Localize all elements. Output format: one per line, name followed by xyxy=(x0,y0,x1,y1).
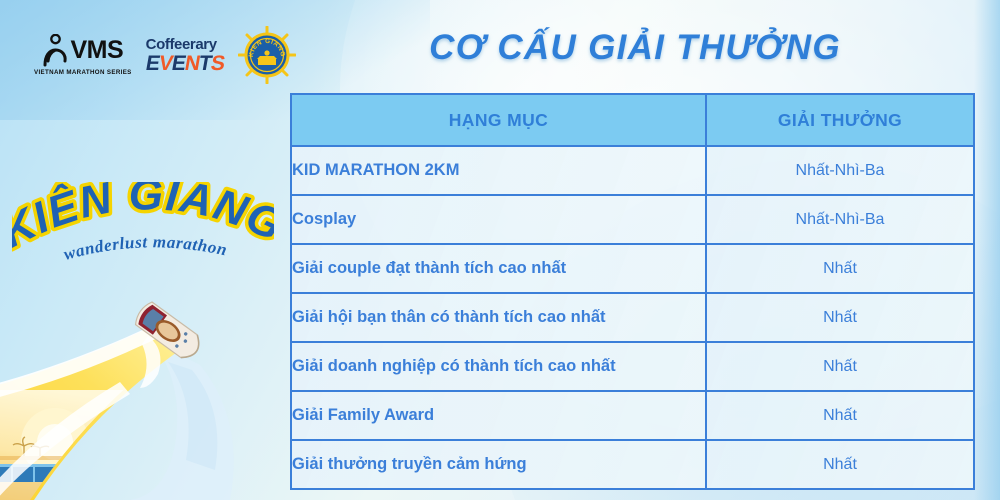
runner-icon xyxy=(42,34,68,68)
logo-strip: VMS VIETNAM MARATHON SERIES Coffeerary E… xyxy=(34,22,296,88)
cell-category: Giải doanh nghiệp có thành tích cao nhất xyxy=(291,342,706,391)
column-header-prize: GIẢI THƯỞNG xyxy=(706,94,974,146)
table-header-row: HẠNG MỤC GIẢI THƯỞNG xyxy=(291,94,974,146)
speedboat-illustration xyxy=(0,270,300,500)
sun-seal-icon: KIEN GIANG xyxy=(238,26,296,84)
table-row: Giải Family Award Nhất xyxy=(291,391,974,440)
vms-wordmark: VMS xyxy=(70,38,123,63)
table-body: KID MARATHON 2KM Nhất-Nhì-Ba Cosplay Nhấ… xyxy=(291,146,974,489)
cell-prize: Nhất xyxy=(706,342,974,391)
page-title: CƠ CẤU GIẢI THƯỞNG xyxy=(290,28,980,68)
cell-prize: Nhất xyxy=(706,391,974,440)
cell-category: Giải Family Award xyxy=(291,391,706,440)
kien-giang-seal-logo: KIEN GIANG xyxy=(238,26,296,84)
column-header-category: HẠNG MỤC xyxy=(291,94,706,146)
cell-category: KID MARATHON 2KM xyxy=(291,146,706,195)
cell-prize: Nhất xyxy=(706,293,974,342)
cell-prize: Nhất-Nhì-Ba xyxy=(706,195,974,244)
cell-category: Cosplay xyxy=(291,195,706,244)
cell-category: Giải hội bạn thân có thành tích cao nhất xyxy=(291,293,706,342)
table-row: Giải couple đạt thành tích cao nhất Nhất xyxy=(291,244,974,293)
vms-subtitle: VIETNAM MARATHON SERIES xyxy=(34,70,132,76)
cell-prize: Nhất-Nhì-Ba xyxy=(706,146,974,195)
kien-giang-wordmark: KIÊN GIANG KIÊN GIANG wanderlust maratho… xyxy=(12,182,274,282)
cell-category: Giải thưởng truyền cảm hứng xyxy=(291,440,706,489)
table-row: Giải thưởng truyền cảm hứng Nhất xyxy=(291,440,974,489)
background-tint-right-edge xyxy=(974,0,1000,500)
cell-prize: Nhất xyxy=(706,440,974,489)
events-wordmark: EVENTS xyxy=(146,53,224,74)
coffeerary-wordmark: Coffeerary xyxy=(146,37,217,52)
slide-canvas: VMS VIETNAM MARATHON SERIES Coffeerary E… xyxy=(0,0,1000,500)
cell-category: Giải couple đạt thành tích cao nhất xyxy=(291,244,706,293)
table-row: Giải hội bạn thân có thành tích cao nhất… xyxy=(291,293,974,342)
coffeerary-events-logo: Coffeerary EVENTS xyxy=(146,37,224,74)
vms-logo: VMS VIETNAM MARATHON SERIES xyxy=(34,34,132,76)
kg-tagline: wanderlust marathon xyxy=(62,232,229,264)
table-row: Cosplay Nhất-Nhì-Ba xyxy=(291,195,974,244)
table-row: KID MARATHON 2KM Nhất-Nhì-Ba xyxy=(291,146,974,195)
cell-prize: Nhất xyxy=(706,244,974,293)
table-row: Giải doanh nghiệp có thành tích cao nhất… xyxy=(291,342,974,391)
prize-structure-table: HẠNG MỤC GIẢI THƯỞNG KID MARATHON 2KM Nh… xyxy=(290,93,975,490)
